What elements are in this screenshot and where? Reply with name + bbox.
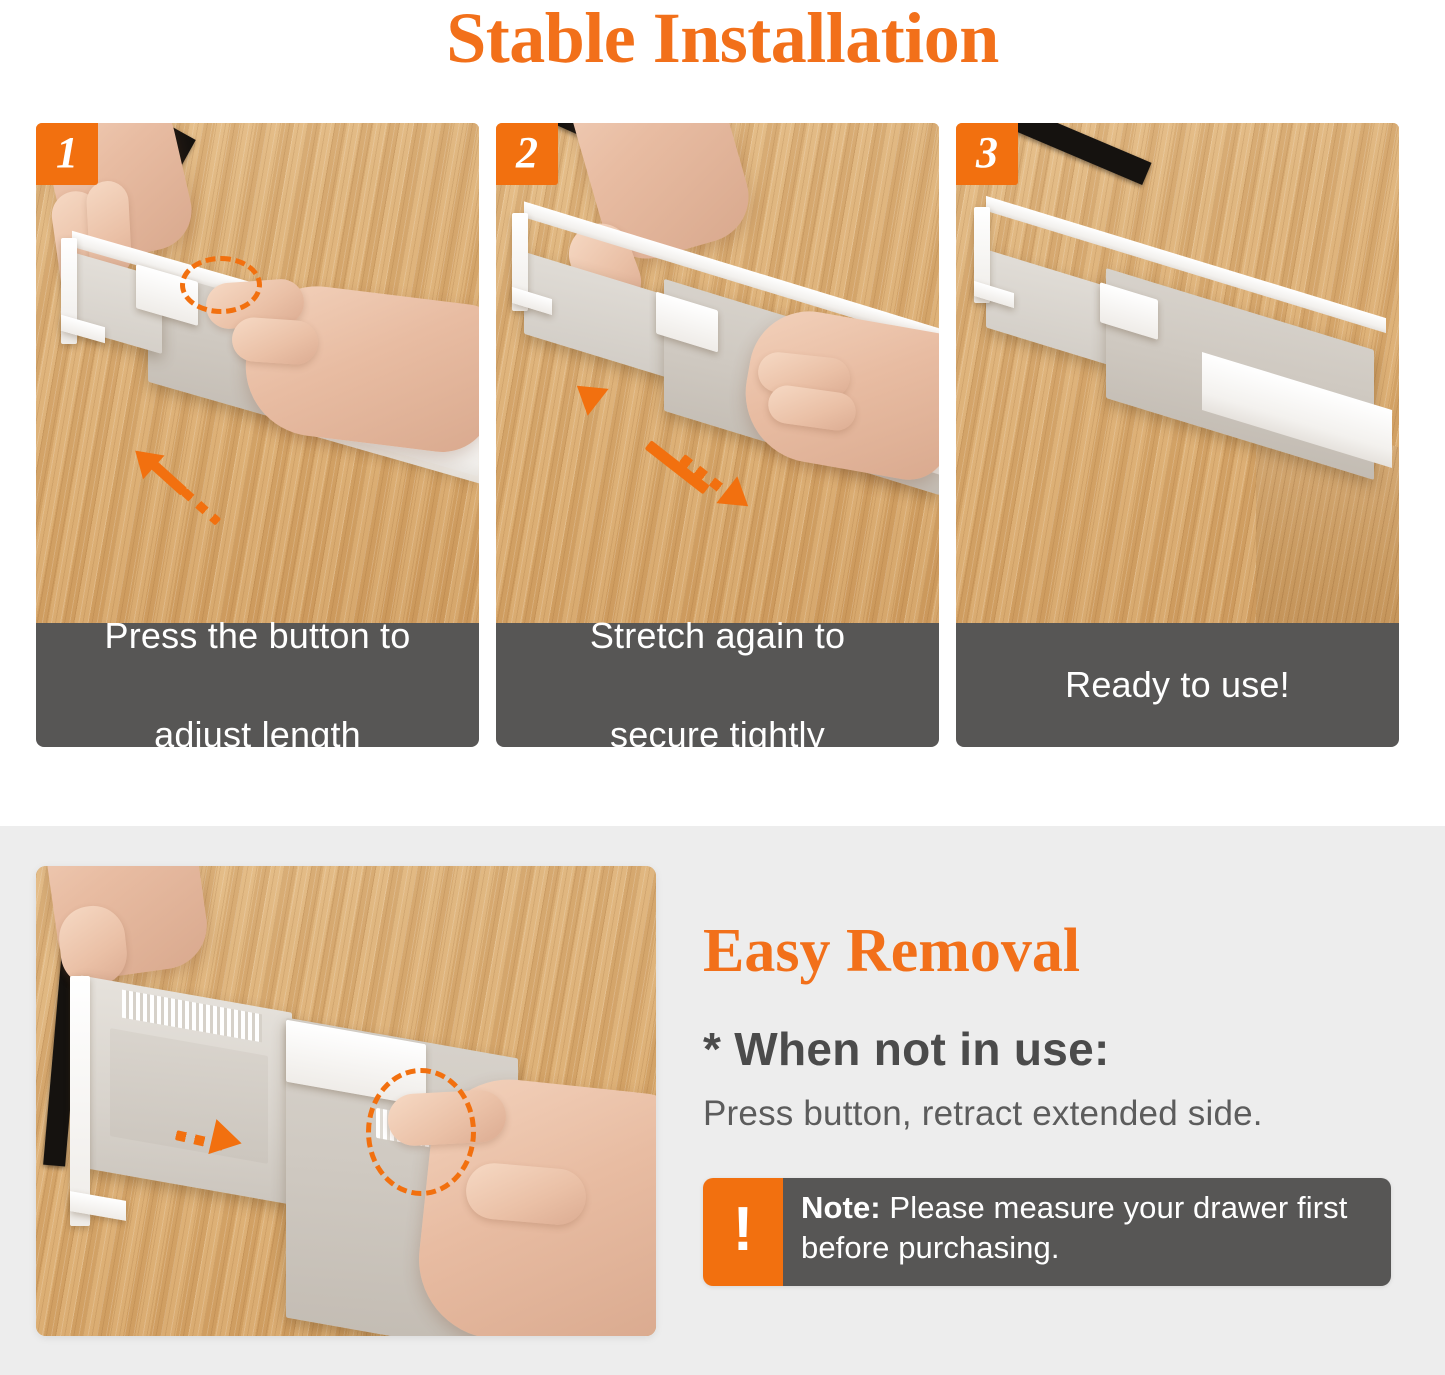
easy-removal-photo [36,866,656,1336]
step-caption-1: Press the button to adjust length [36,623,479,747]
exclamation-icon: ! [703,1178,783,1286]
note-body: Please measure your drawer first before … [801,1190,1347,1265]
note-text: Note: Please measure your drawer first b… [783,1178,1391,1286]
caption-line-2: adjust length [50,710,465,747]
step-panel-3: 3 Ready to use! [956,123,1399,747]
easy-removal-subtitle: * When not in use: [703,1026,1110,1072]
step-panel-1: 1 Press the button to adjust length [36,123,479,747]
easy-removal-body: Press button, retract extended side. [703,1092,1263,1136]
divider-end-cap [70,976,90,1226]
step-caption-2: Stretch again to secure tightly [496,623,939,747]
dashed-highlight-circle [180,256,262,314]
note-box: ! Note: Please measure your drawer first… [703,1178,1391,1286]
caption-line-2: secure tightly [510,710,925,747]
step-2-photo [496,123,939,623]
step-caption-3: Ready to use! [956,623,1399,747]
step-badge-2: 2 [496,123,558,185]
dashed-highlight-circle [366,1068,476,1196]
caption-line-1: Stretch again to [510,611,925,661]
caption-line-1: Press the button to [50,611,465,661]
step-1-photo [36,123,479,623]
step-3-photo [956,123,1399,623]
step-badge-3: 3 [956,123,1018,185]
easy-removal-title: Easy Removal [703,920,1080,982]
step-badge-1: 1 [36,123,98,185]
note-label: Note: [801,1190,881,1225]
finger-middle [231,316,320,366]
step-panel-2: 2 Stretch again to secure tightly [496,123,939,747]
caption-line-1: Ready to use! [970,660,1385,710]
stable-installation-section: Stable Installation [0,0,1445,826]
page-title: Stable Installation [0,2,1445,74]
